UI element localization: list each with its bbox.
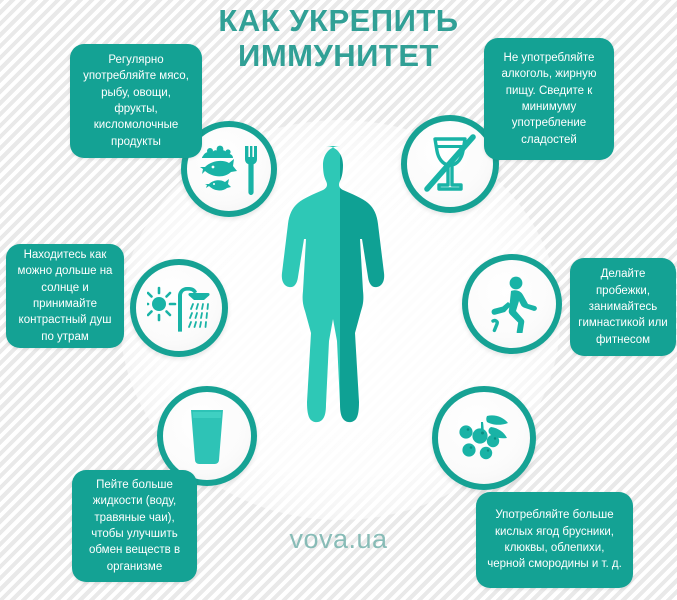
running-person-icon[interactable] <box>462 254 562 354</box>
human-body-silhouette <box>276 142 404 472</box>
infographic-canvas: КАК УКРЕПИТЬ ИММУНИТЕТ <box>0 0 677 600</box>
tip-box-sun: Находитесь как можно дольше на солнце и … <box>6 244 124 348</box>
tip-box-sport: Делайте пробежки, занимайтесь гимнастико… <box>570 258 676 356</box>
tip-text-food: Регулярно употребляйте мясо, рыбу, овощи… <box>78 52 194 150</box>
tip-box-food: Регулярно употребляйте мясо, рыбу, овощи… <box>70 44 202 158</box>
berries-icon[interactable] <box>432 386 536 490</box>
tip-box-alcohol: Не употребляйте алкоголь, жирную пищу. С… <box>484 38 614 160</box>
tip-text-sun: Находитесь как можно дольше на солнце и … <box>14 247 116 345</box>
tip-text-sport: Делайте пробежки, занимайтесь гимнастико… <box>578 266 668 348</box>
watermark: vova.ua <box>0 524 677 555</box>
tip-text-alcohol: Не употребляйте алкоголь, жирную пищу. С… <box>492 50 606 148</box>
sun-and-shower-icon[interactable] <box>130 259 228 357</box>
title-line-1: КАК УКРЕПИТЬ <box>218 3 458 38</box>
